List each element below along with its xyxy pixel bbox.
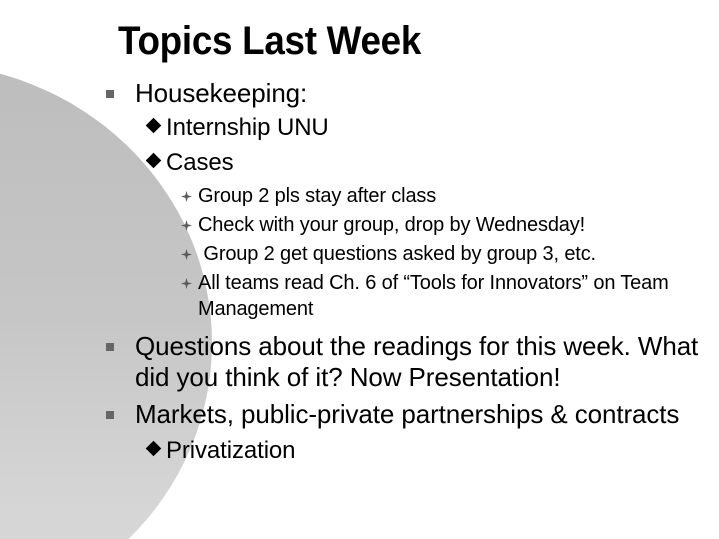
square-bullet-icon — [106, 411, 114, 419]
list-item-label: Internship UNU — [166, 113, 701, 142]
four-point-star-bullet-icon — [181, 191, 192, 202]
list-item: Check with your group, drop by Wednesday… — [0, 212, 719, 238]
four-point-star-bullet-icon — [181, 278, 192, 289]
list-item-label: Markets, public-private partnerships & c… — [135, 399, 701, 430]
list-item: Cases — [0, 148, 719, 177]
list-item: Internship UNU — [0, 113, 719, 142]
list-item: Questions about the readings for this we… — [0, 331, 719, 393]
list-item-label: Check with your group, drop by Wednesday… — [198, 212, 705, 238]
presentation-slide: Topics Last Week Housekeeping: Internshi… — [0, 0, 719, 539]
list-item-label: Group 2 pls stay after class — [198, 183, 705, 209]
list-item: Markets, public-private partnerships & c… — [0, 399, 719, 430]
slide-outline: Housekeeping: Internship UNU Cases Group… — [0, 78, 719, 467]
diamond-bullet-icon — [146, 441, 162, 457]
page-title: Topics Last Week — [118, 18, 421, 64]
diamond-bullet-icon — [146, 153, 162, 169]
list-item-label: Group 2 get questions asked by group 3, … — [198, 241, 705, 267]
list-item-label: Cases — [166, 148, 701, 177]
four-point-star-bullet-icon — [181, 220, 192, 231]
list-item-label: Questions about the readings for this we… — [135, 331, 701, 393]
list-item: Housekeeping: — [0, 78, 719, 109]
list-item-label: Housekeeping: — [135, 78, 701, 109]
list-item-label: All teams read Ch. 6 of “Tools for Innov… — [198, 270, 705, 322]
square-bullet-icon — [106, 90, 114, 98]
list-item: Group 2 get questions asked by group 3, … — [0, 241, 719, 267]
square-bullet-icon — [106, 343, 114, 351]
list-item: All teams read Ch. 6 of “Tools for Innov… — [0, 270, 719, 322]
diamond-bullet-icon — [146, 118, 162, 134]
list-item: Privatization — [0, 436, 719, 465]
list-item: Group 2 pls stay after class — [0, 183, 719, 209]
list-item-label: Privatization — [166, 436, 701, 465]
four-point-star-bullet-icon — [181, 249, 192, 260]
